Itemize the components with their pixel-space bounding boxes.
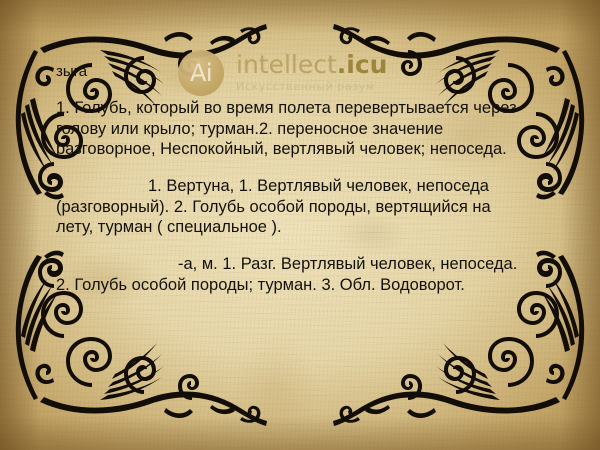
- definition-entry: -а, м. 1. Разг. Вертлявый человек, непос…: [56, 254, 530, 295]
- definition-entry: 1. Вертуна, 1. Вертлявый человек, непосе…: [56, 176, 530, 238]
- page-edge-shading-left: [0, 0, 40, 450]
- page-edge-shading-top: [0, 0, 600, 34]
- page-edge-shading-right: [560, 0, 600, 450]
- page-edge-shading-bottom: [0, 416, 600, 450]
- parchment-page: Ai intellect.icu Искусственный разум зыг…: [0, 0, 600, 450]
- definition-entry: 1. Голубь, который во время полета перев…: [56, 98, 530, 160]
- headword: зыга: [56, 62, 530, 81]
- dictionary-article: зыга 1. Голубь, который во время полета …: [56, 62, 530, 312]
